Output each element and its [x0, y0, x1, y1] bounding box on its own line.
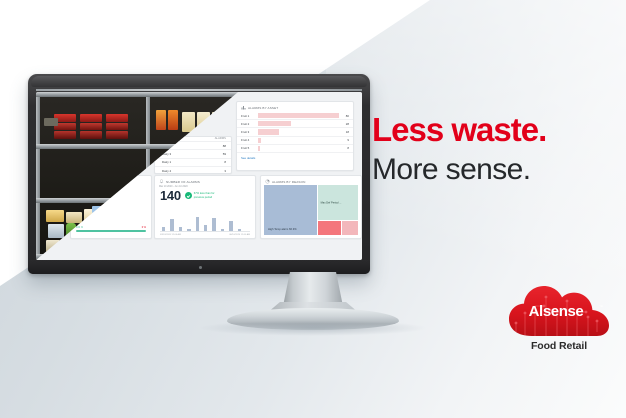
asset-name: Fruit 1: [241, 114, 258, 118]
bar-chart-icon: [241, 105, 246, 110]
sparkline-bar: [229, 221, 232, 231]
pie-chart-icon: [265, 179, 270, 184]
asset-value: 9: [339, 138, 349, 142]
card-alarms-by-reason-header: ALARMS BY REASON: [261, 176, 361, 184]
sparkline-bar: [187, 229, 190, 231]
treemap-block-high-temp: High Temp alarm 66.3%: [264, 185, 317, 235]
logo-subtitle: Food Retail: [505, 340, 613, 352]
asset-bar: [258, 146, 339, 151]
cloud-icon: Alsense ™: [505, 284, 613, 338]
asset-table-row: Dairy 43: [155, 166, 231, 174]
sparkline-bar: [179, 227, 182, 231]
asset-value: 80: [339, 114, 349, 118]
bell-icon: [159, 179, 164, 184]
card-alarms-by-asset: ALARMS BY ASSET Fruit 180Fruit 228Fruit …: [236, 101, 354, 171]
marketing-banner: ALARMS BY ASSET Fruit 180Fruit 228Fruit …: [0, 0, 626, 418]
treemap-block-max-def: Max Def Period ...: [318, 185, 358, 220]
count-left-label: 100 %: [76, 226, 83, 229]
asset-value: 28: [339, 122, 349, 126]
sparkline-bar: [212, 218, 215, 231]
screen-content: ALARMS BY ASSET Fruit 180Fruit 228Fruit …: [36, 92, 362, 260]
asset-bar: [258, 138, 339, 143]
alarms-by-asset-row: Fruit 58: [237, 145, 353, 153]
sparkline-bar: [162, 227, 165, 231]
alarms-by-asset-list: Fruit 180Fruit 228Fruit 318Fruit 49Fruit…: [237, 112, 353, 153]
alarms-sparkline: 03/10/2020 12:00 AM 06/10/2020 12:00 AM: [160, 215, 250, 231]
sparkline-axis-right: 06/10/2020 12:00 AM: [229, 234, 250, 236]
row-value: 59: [223, 152, 226, 156]
asset-bar: [258, 121, 339, 126]
power-led-icon: [199, 266, 202, 269]
card-title: ALARMS BY REASON: [272, 180, 306, 184]
asset-bar: [258, 113, 339, 118]
asset-table-row: Dairy 18: [155, 158, 231, 166]
card-number-of-alarms-header: NUMBER OF ALARMS: [155, 176, 255, 184]
monitor-screen: ALARMS BY ASSET Fruit 180Fruit 228Fruit …: [36, 92, 362, 260]
sparkline-bar: [221, 229, 224, 231]
row-name: Dairy 4: [162, 169, 171, 173]
monitor-mockup: ALARMS BY ASSET Fruit 180Fruit 228Fruit …: [28, 74, 370, 274]
marketing-copy: Less waste. More sense.: [372, 110, 612, 190]
asset-name: Fruit 5: [241, 146, 258, 150]
count-progress: 100 % 0 %: [76, 226, 146, 232]
alarms-by-asset-row: Fruit 228: [237, 120, 353, 128]
treemap-label-1: High Temp alarm 66.3%: [268, 228, 297, 231]
row-value: 3: [224, 169, 226, 173]
asset-name: Fruit 4: [241, 138, 258, 142]
treemap-block-3: [318, 221, 341, 235]
kpi-delta-badge: 67% less than for previous period: [185, 192, 220, 199]
card-title: NUMBER OF ALARMS: [166, 180, 200, 184]
card-alarms-by-asset-header: ALARMS BY ASSET: [237, 102, 353, 110]
monitor-screen-edge: [36, 89, 362, 91]
sparkline-bar: [196, 217, 199, 231]
alarms-by-asset-row: Fruit 318: [237, 128, 353, 136]
treemap-block-4: [342, 221, 358, 235]
alarms-treemap: High Temp alarm 66.3% Max Def Period ...: [264, 185, 358, 235]
alarms-by-asset-row: Fruit 180: [237, 112, 353, 120]
alsense-logo: Alsense ™ Food Retail: [505, 284, 613, 352]
logo-trademark: ™: [599, 304, 603, 309]
asset-name: Fruit 3: [241, 130, 258, 134]
kpi-delta-text: 67% less than for previous period: [194, 192, 220, 199]
treemap-label-2: Max Def Period ...: [321, 201, 342, 204]
card-title: ALARMS BY ASSET: [248, 106, 278, 110]
tagline-line-2: More sense.: [372, 150, 612, 190]
monitor-shadow: [198, 320, 428, 336]
asset-bar: [258, 129, 339, 134]
background-highlight: [326, 0, 626, 418]
row-value: 88: [223, 144, 226, 148]
row-value: 8: [224, 160, 226, 164]
kpi-value: 140: [155, 189, 181, 202]
alarms-by-asset-row: Fruit 49: [237, 137, 353, 145]
asset-name: Fruit 2: [241, 122, 258, 126]
sparkline-bar: [204, 225, 207, 231]
card-alarms-by-reason: ALARMS BY REASON High Temp alarm 66.3% M…: [260, 175, 362, 239]
check-circle-icon: [185, 192, 192, 199]
asset-value: 8: [339, 146, 349, 150]
see-details-link[interactable]: See details: [237, 153, 353, 160]
card-number-of-alarms: NUMBER OF ALARMS Mar 10 2020 - Jun 10 20…: [154, 175, 256, 239]
count-right-label: 0 %: [142, 226, 146, 229]
row-name: Dairy 1: [162, 160, 171, 164]
logo-wordmark: Alsense: [505, 303, 607, 320]
sparkline-bar: [238, 229, 241, 231]
tagline-line-1: Less waste.: [372, 110, 612, 150]
sparkline-axis-left: 03/10/2020 12:00 AM: [160, 234, 181, 236]
sparkline-bar: [170, 219, 173, 231]
monitor-top-gloss: [31, 76, 367, 87]
asset-value: 18: [339, 130, 349, 134]
